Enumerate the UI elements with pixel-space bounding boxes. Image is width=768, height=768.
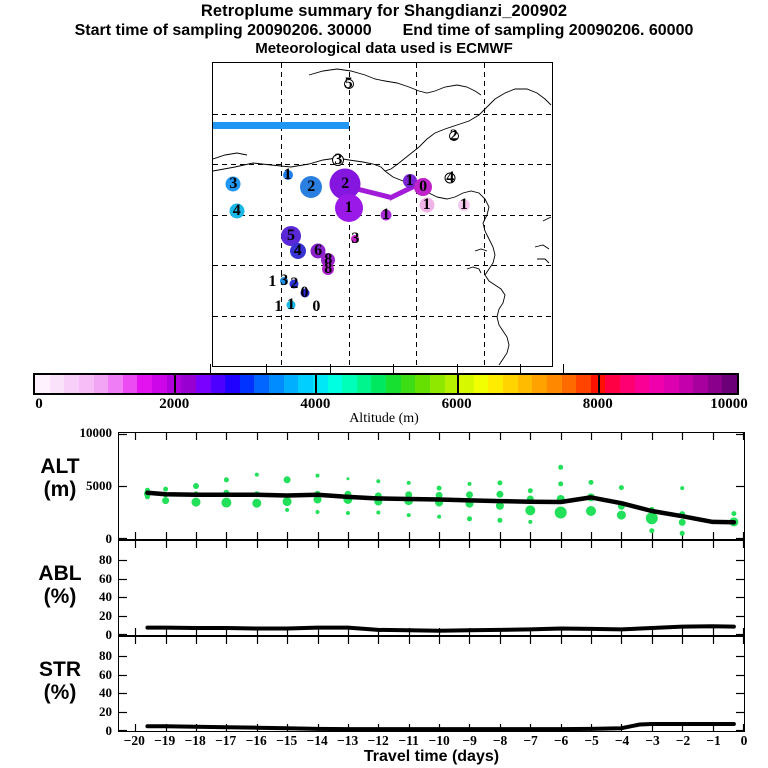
colorbar-segment xyxy=(620,375,635,393)
colorbar-segment xyxy=(664,375,679,393)
x-axis-tick-label: −13 xyxy=(337,733,358,749)
x-axis-tick-label: −7 xyxy=(523,733,537,749)
colorbar-segment xyxy=(371,375,386,393)
x-axis-tick-label: −3 xyxy=(645,733,659,749)
colorbar-segment xyxy=(225,375,240,393)
scatter-point xyxy=(346,511,350,515)
scatter-point xyxy=(525,505,535,515)
map-marker-label: 2 xyxy=(290,276,298,292)
map-marker-label: 1 xyxy=(284,167,292,183)
scatter-point xyxy=(617,511,626,520)
colorbar-segment xyxy=(576,375,591,393)
x-axis-tick-label: −4 xyxy=(615,733,629,749)
x-axis-tick-label: −16 xyxy=(246,733,267,749)
scatter-point xyxy=(558,481,563,486)
colorbar-tickmark xyxy=(563,364,564,373)
scatter-point xyxy=(497,518,502,523)
colorbar-segment xyxy=(679,375,694,393)
map-marker-label: 1 xyxy=(382,207,390,223)
scatter-point xyxy=(316,474,320,478)
colorbar-divider xyxy=(598,373,600,395)
colorbar-segment xyxy=(152,375,167,393)
scatter-point xyxy=(407,481,411,485)
scatter-point xyxy=(680,486,684,490)
colorbar-segment xyxy=(693,375,708,393)
colorbar-segment xyxy=(342,375,357,393)
y-axis-tick-label: 60 xyxy=(52,571,112,587)
map-marker-label: 1 xyxy=(423,197,431,213)
altitude-colorbar[interactable] xyxy=(33,373,739,395)
scatter-point xyxy=(283,497,292,506)
alt-panel[interactable] xyxy=(118,432,745,540)
colorbar-segment xyxy=(708,375,723,393)
colorbar-segment xyxy=(605,375,620,393)
y-axis-tick-label: 20 xyxy=(52,704,112,720)
colorbar-segment xyxy=(415,375,430,393)
colorbar-segment xyxy=(488,375,503,393)
scatter-point xyxy=(437,515,441,519)
x-axis-tick-label: −9 xyxy=(462,733,476,749)
map-marker-label: 2 xyxy=(307,179,315,195)
map-marker-label: 0 xyxy=(312,299,320,315)
scatter-point xyxy=(466,491,473,498)
colorbar-tickmark xyxy=(210,364,211,373)
x-axis-tick-label: 0 xyxy=(741,733,748,749)
scatter-point xyxy=(285,508,289,512)
scatter-point xyxy=(193,483,199,489)
scatter-point xyxy=(497,480,502,485)
scatter-point xyxy=(376,511,380,515)
scatter-point xyxy=(221,498,231,508)
y-axis-tick-label: 0 xyxy=(52,531,112,547)
scatter-point xyxy=(316,510,320,514)
start-time-label: Start time of sampling 20090206. 30000 xyxy=(75,22,372,39)
colorbar-segment xyxy=(196,375,211,393)
colorbar-segment xyxy=(532,375,547,393)
map-marker-label: 1 xyxy=(287,297,295,313)
scatter-point xyxy=(467,516,472,521)
y-axis-tick-label: 80 xyxy=(52,648,112,664)
map-marker-label: 3 xyxy=(280,273,288,289)
x-axis-tick-label: −19 xyxy=(154,733,175,749)
colorbar-segment xyxy=(269,375,284,393)
map-marker-label: 3 xyxy=(334,152,342,168)
colorbar-segment xyxy=(474,375,489,393)
colorbar-segment xyxy=(722,375,737,393)
x-axis-title: Travel time (days) xyxy=(118,748,745,766)
map-marker-label: 4 xyxy=(294,243,302,259)
scatter-point xyxy=(679,519,686,526)
x-axis-tick-label: −17 xyxy=(215,733,236,749)
colorbar-tickmark xyxy=(457,364,458,373)
scatter-point xyxy=(619,485,624,490)
title-block: Retroplume summary for Shangdianzi_20090… xyxy=(0,0,768,58)
map-marker-label: 0 xyxy=(419,179,427,195)
colorbar-segment xyxy=(386,375,401,393)
scatter-point xyxy=(192,498,201,507)
scatter-point xyxy=(555,507,567,519)
abl-panel[interactable] xyxy=(118,540,745,636)
colorbar-segment xyxy=(430,375,445,393)
scatter-point xyxy=(589,480,594,485)
colorbar-segment xyxy=(123,375,138,393)
colorbar-segment xyxy=(459,375,474,393)
colorbar-segment xyxy=(254,375,269,393)
colorbar-tickmark xyxy=(520,364,521,373)
x-axis-tick-label: −14 xyxy=(307,733,328,749)
scatter-point xyxy=(528,488,533,493)
y-axis-tick-label: 0 xyxy=(52,627,112,643)
x-axis-tick-label: −12 xyxy=(368,733,389,749)
end-time-label: End time of sampling 20090206. 60000 xyxy=(403,22,694,39)
x-axis-tick-label: −20 xyxy=(124,733,145,749)
colorbar-tickmark xyxy=(393,364,394,373)
scatter-point xyxy=(224,477,229,482)
scatter-point xyxy=(252,499,261,508)
colorbar-tickmark xyxy=(266,364,267,373)
scatter-point xyxy=(437,486,442,491)
colorbar-segment xyxy=(547,375,562,393)
colorbar-segment xyxy=(357,375,372,393)
colorbar-segment xyxy=(298,375,313,393)
x-axis-tick-label: −1 xyxy=(706,733,720,749)
x-axis-tick-label: −11 xyxy=(398,733,418,749)
colorbar-segment xyxy=(211,375,226,393)
scatter-point xyxy=(255,473,259,477)
y-axis-tick-labels: 0500010000020406080020406080 xyxy=(48,0,112,768)
scatter-point xyxy=(284,476,291,483)
colorbar-segment xyxy=(328,375,343,393)
colorbar-segment xyxy=(401,375,416,393)
colorbar-segment xyxy=(649,375,664,393)
x-axis-tick-label: −18 xyxy=(185,733,206,749)
scatter-point xyxy=(163,487,168,492)
colorbar-segment xyxy=(518,375,533,393)
scatter-point xyxy=(346,477,349,480)
map-marker-label: 3 xyxy=(351,231,359,247)
x-axis-tick-label: −10 xyxy=(429,733,450,749)
colorbar-segment xyxy=(284,375,299,393)
colorbar-tickmark xyxy=(330,364,331,373)
scatter-point xyxy=(162,497,169,504)
alt-plot xyxy=(119,433,744,539)
scatter-point xyxy=(407,513,411,517)
map-marker-label: 4 xyxy=(233,203,241,219)
colorbar-title: Altitude (m) xyxy=(0,411,768,427)
x-axis-tick-label: −6 xyxy=(554,733,568,749)
scatter-point xyxy=(649,528,654,533)
colorbar-segment xyxy=(181,375,196,393)
map-marker-label: 5 xyxy=(345,76,353,92)
sampling-times: Start time of sampling 20090206. 30000 E… xyxy=(0,21,768,40)
colorbar-divider xyxy=(315,373,317,395)
map-marker-label: 1 xyxy=(274,299,282,315)
scatter-point xyxy=(376,479,380,483)
map-marker-label: 1 xyxy=(268,274,276,290)
scatter-point xyxy=(731,511,736,516)
retroplume-map[interactable]: 3412213110114255468832013110 xyxy=(212,62,553,367)
y-axis-tick-label: 40 xyxy=(52,589,112,605)
map-marker-label: 1 xyxy=(460,197,468,213)
map-marker-label: 8 xyxy=(324,261,332,277)
y-axis-tick-label: 20 xyxy=(52,608,112,624)
scatter-point xyxy=(468,482,472,486)
colorbar-segment xyxy=(562,375,577,393)
colorbar-segment xyxy=(240,375,255,393)
met-data-label: Meteorological data used is ECMWF xyxy=(0,40,768,58)
map-marker-label: 1 xyxy=(345,200,353,216)
page-title: Retroplume summary for Shangdianzi_20090… xyxy=(0,2,768,21)
map-marker-label: 3 xyxy=(229,176,237,192)
trajectory-segment-blue xyxy=(213,122,349,129)
x-axis-tick-label: −15 xyxy=(276,733,297,749)
map-marker-label: 4 xyxy=(446,170,454,186)
map-marker-label: 1 xyxy=(406,173,414,189)
y-axis-tick-label: 10000 xyxy=(52,425,112,441)
colorbar-divider xyxy=(174,373,176,395)
y-axis-tick-label: 40 xyxy=(52,685,112,701)
x-axis-tick-label: −2 xyxy=(676,733,690,749)
colorbar-segment xyxy=(503,375,518,393)
x-axis-tick-label: −5 xyxy=(584,733,598,749)
colorbar-segment xyxy=(635,375,650,393)
y-axis-tick-label: 60 xyxy=(52,667,112,683)
scatter-point xyxy=(558,465,563,470)
map-marker-label: 2 xyxy=(450,128,458,144)
scatter-point xyxy=(680,531,685,536)
scatter-point xyxy=(496,491,503,498)
y-axis-tick-label: 80 xyxy=(52,552,112,568)
abl-plot xyxy=(119,541,744,635)
map-marker-label: 0 xyxy=(301,285,309,301)
x-axis-tick-label: −8 xyxy=(493,733,507,749)
scatter-point xyxy=(528,520,532,524)
str-panel[interactable] xyxy=(118,636,745,732)
colorbar-segment xyxy=(137,375,152,393)
scatter-point xyxy=(586,506,596,516)
colorbar-divider xyxy=(457,373,459,395)
y-axis-tick-label: 5000 xyxy=(52,478,112,494)
map-marker-label: 2 xyxy=(341,176,349,192)
str-plot xyxy=(119,637,744,731)
